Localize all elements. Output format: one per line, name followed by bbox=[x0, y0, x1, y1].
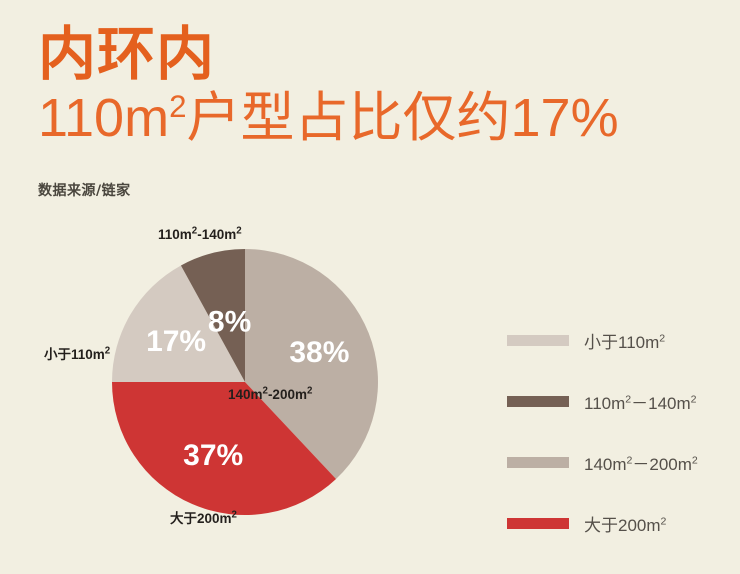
pie-chart-area: 38% 37% 17% 8% 110m2-140m2 小于110m2 140m2… bbox=[0, 215, 500, 560]
legend-label-under-110: 小于110m2 bbox=[584, 328, 665, 353]
legend-label-over-200: 大于200m2 bbox=[584, 511, 666, 536]
legend-label-140-200: 140m2－200m2 bbox=[584, 450, 698, 475]
page-title: 内环内 bbox=[38, 26, 718, 84]
infographic-canvas: 内环内 110m2户型占比仅约17% 数据来源/链家 38% 37% 17% 8… bbox=[0, 0, 740, 574]
legend-swatch-icon bbox=[507, 396, 569, 407]
legend-swatch-icon bbox=[507, 335, 569, 346]
legend-3-prefix: 大于200m bbox=[584, 516, 661, 535]
callout-top-sup2: 2 bbox=[236, 226, 241, 237]
legend-1-sup2: 2 bbox=[691, 393, 697, 405]
pie-svg: 38% 37% 17% 8% bbox=[110, 247, 380, 517]
header: 内环内 110m2户型占比仅约17% bbox=[38, 26, 718, 148]
legend-2-prefix: 140m bbox=[584, 455, 627, 474]
legend-3-sup1: 2 bbox=[661, 515, 667, 527]
pie-callout-110-140: 110m2-140m2 bbox=[158, 227, 242, 242]
legend-item-140-200[interactable]: 140m2－200m2 bbox=[507, 452, 732, 472]
pie-value-140-200: 38% bbox=[289, 336, 349, 369]
callout-bottom-prefix: 大于200m bbox=[170, 511, 232, 526]
legend-item-under-110[interactable]: 小于110m2 bbox=[507, 330, 732, 350]
legend-2-sup2: 2 bbox=[692, 454, 698, 466]
pie-callout-over-200: 大于200m2 bbox=[170, 507, 237, 527]
subtitle-superscript: 2 bbox=[169, 89, 186, 124]
legend-2-rest: －200m bbox=[632, 455, 692, 474]
page-subtitle: 110m2户型占比仅约17% bbox=[38, 88, 718, 148]
callout-left-prefix: 小于110m bbox=[44, 347, 105, 362]
legend-0-prefix: 小于110m bbox=[584, 333, 659, 352]
legend-item-110-140[interactable]: 110m2－140m2 bbox=[507, 391, 732, 411]
pie-value-over-200: 37% bbox=[183, 439, 243, 472]
legend-swatch-icon bbox=[507, 457, 569, 468]
pie-value-110-140: 8% bbox=[208, 305, 251, 338]
callout-right-sup2: 2 bbox=[307, 386, 312, 397]
data-source-note: 数据来源/链家 bbox=[38, 180, 131, 200]
legend-item-over-200[interactable]: 大于200m2 bbox=[507, 513, 732, 533]
callout-top-mid: -140m bbox=[197, 227, 236, 242]
pie-callout-140-200: 140m2-200m2 bbox=[228, 387, 312, 402]
callout-top-prefix: 110m bbox=[158, 227, 192, 242]
legend-label-110-140: 110m2－140m2 bbox=[584, 389, 697, 414]
callout-bottom-sup1: 2 bbox=[232, 510, 237, 521]
callout-left-sup1: 2 bbox=[105, 346, 110, 357]
callout-right-prefix: 140m bbox=[228, 387, 263, 402]
legend-1-rest: －140m bbox=[631, 394, 691, 413]
chart-legend: 小于110m2 110m2－140m2 140m2－200m2 大于200m2 bbox=[507, 330, 732, 533]
subtitle-prefix: 110m bbox=[38, 88, 169, 148]
legend-swatch-icon bbox=[507, 518, 569, 529]
pie-chart: 38% 37% 17% 8% bbox=[110, 247, 380, 517]
subtitle-rest: 户型占比仅约17% bbox=[187, 88, 619, 148]
callout-right-mid: -200m bbox=[268, 387, 307, 402]
pie-callout-under-110: 小于110m2 bbox=[44, 343, 110, 363]
pie-value-under-110: 17% bbox=[146, 325, 206, 358]
legend-0-sup1: 2 bbox=[659, 332, 665, 344]
legend-1-prefix: 110m bbox=[584, 394, 625, 413]
